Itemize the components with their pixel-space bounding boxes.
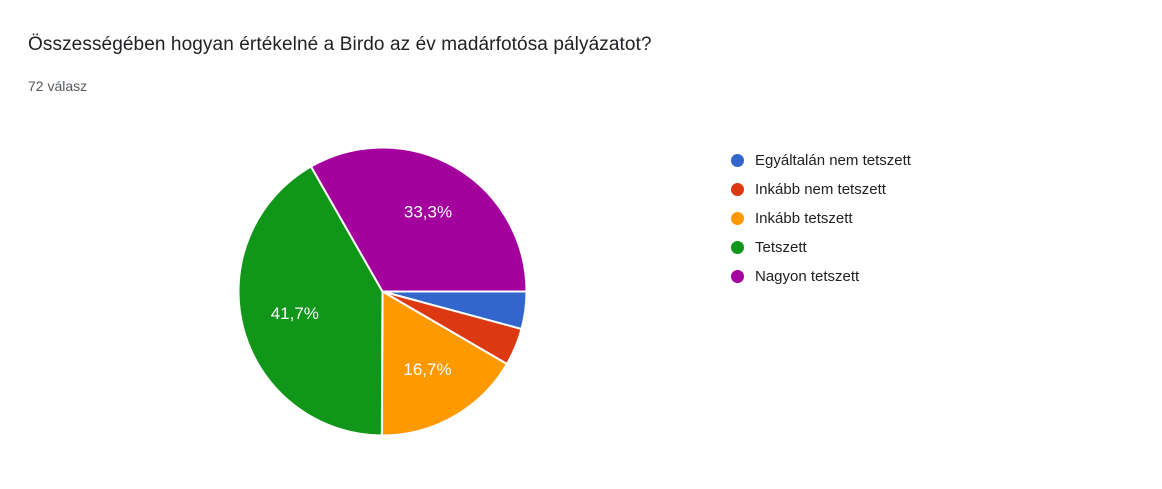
pie-chart-svg: 16,7%41,7%33,3% [238,147,527,436]
chart-legend: Egyáltalán nem tetszettInkább nem tetsze… [731,146,991,291]
pie-chart: 16,7%41,7%33,3% [238,147,527,436]
response-count: 72 válasz [28,76,87,96]
page-title: Összességében hogyan értékelné a Birdo a… [28,32,652,58]
legend-item[interactable]: Tetszett [731,233,991,262]
pie-slice-group [238,147,526,435]
legend-item-label: Tetszett [755,238,807,257]
legend-item[interactable]: Nagyon tetszett [731,262,991,291]
legend-item-label: Inkább nem tetszett [755,180,886,199]
pie-chart-area: 16,7%41,7%33,3% Egyáltalán nem tetszettI… [0,110,1162,489]
pie-slice-label: 33,3% [404,202,452,221]
legend-item-label: Egyáltalán nem tetszett [755,151,911,170]
legend-color-dot-icon [731,212,744,225]
legend-item-label: Nagyon tetszett [755,267,859,286]
legend-color-dot-icon [731,183,744,196]
pie-slice-label: 16,7% [403,360,451,379]
chart-page: Összességében hogyan értékelné a Birdo a… [0,0,1162,489]
legend-item[interactable]: Inkább nem tetszett [731,175,991,204]
legend-item-label: Inkább tetszett [755,209,853,228]
legend-item[interactable]: Egyáltalán nem tetszett [731,146,991,175]
legend-color-dot-icon [731,270,744,283]
legend-item[interactable]: Inkább tetszett [731,204,991,233]
pie-slice-label: 41,7% [271,304,319,323]
legend-color-dot-icon [731,154,744,167]
legend-color-dot-icon [731,241,744,254]
